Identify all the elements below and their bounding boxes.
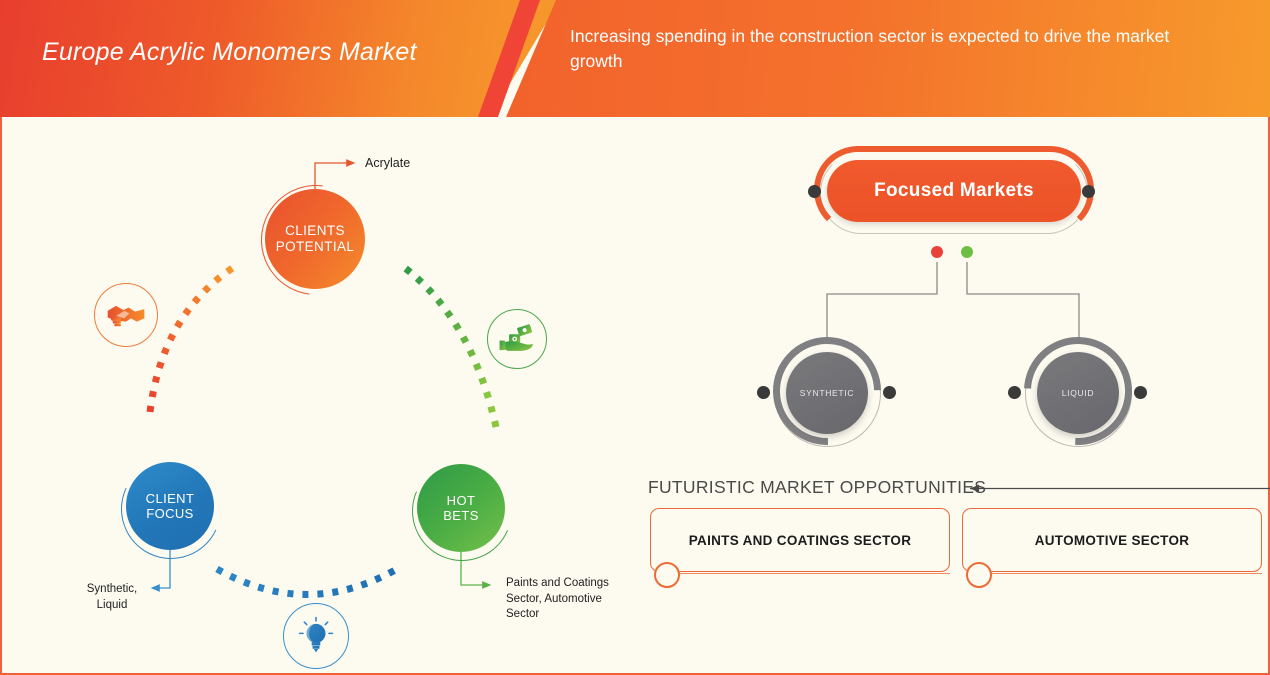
node-client-focus[interactable]: CLIENT FOCUS <box>126 462 214 550</box>
synthetic-connector <box>827 262 937 340</box>
lightbulb-icon-glyph <box>298 617 334 655</box>
hot-bets-label-line1: HOT <box>447 493 476 508</box>
callout-client-focus-line2: Liquid <box>80 598 144 614</box>
callout-hot-bets: Paints and Coatings Sector, Automotive S… <box>506 576 616 623</box>
automotive-box-tail <box>970 573 1262 574</box>
opportunity-box-paints-and-coatings[interactable]: PAINTS AND COATINGS SECTOR <box>650 508 950 572</box>
liquid-right-dot <box>1134 386 1147 399</box>
clients-potential-label-line2: POTENTIAL <box>276 239 355 255</box>
synthetic-label: SYNTHETIC <box>800 388 854 398</box>
infographic-page: Europe Acrylic Monomers Market Increasin… <box>0 0 1270 675</box>
money-hand-icon <box>487 309 547 369</box>
green-dotted-arc <box>405 268 496 427</box>
synthetic-left-dot <box>757 386 770 399</box>
header-banner: Europe Acrylic Monomers Market Increasin… <box>0 0 1270 117</box>
focused-markets-button[interactable]: Focused Markets <box>827 160 1081 222</box>
opportunity-box-automotive[interactable]: AUTOMOTIVE SECTOR <box>962 508 1262 572</box>
focused-markets-right-dot <box>1082 185 1095 198</box>
liquid-label: LIQUID <box>1062 388 1095 398</box>
node-synthetic[interactable]: SYNTHETIC <box>786 352 868 434</box>
callout-acrylate: Acrylate <box>365 156 410 170</box>
blue-dotted-arc <box>217 569 397 595</box>
hot-bets-label: HOT BETS <box>417 464 505 552</box>
paints-and-coatings-label: PAINTS AND COATINGS SECTOR <box>689 533 912 548</box>
client-focus-label-line1: CLIENT <box>146 491 195 506</box>
client-focus-label: CLIENT FOCUS <box>126 462 214 550</box>
futuristic-opportunities-title: FUTURISTIC MARKET OPPORTUNITIES <box>648 477 986 498</box>
orange-dotted-arc <box>150 267 234 412</box>
hot-bets-label-line2: BETS <box>443 508 479 523</box>
callout-hot-bets-line2: Sector, Automotive <box>506 592 616 608</box>
handshake-icon-glyph <box>106 300 146 330</box>
liquid-connector <box>967 262 1079 340</box>
green-dot <box>961 246 973 258</box>
client-focus-label-line2: FOCUS <box>146 506 194 521</box>
automotive-label: AUTOMOTIVE SECTOR <box>1035 533 1190 548</box>
node-hot-bets[interactable]: HOT BETS <box>417 464 505 552</box>
callout-hot-bets-line3: Sector <box>506 607 616 623</box>
node-liquid[interactable]: LIQUID <box>1037 352 1119 434</box>
callout-client-focus: Synthetic, Liquid <box>80 582 144 613</box>
lightbulb-icon <box>283 603 349 669</box>
automotive-box-knob <box>966 562 992 588</box>
clients-potential-label-line1: CLIENTS <box>285 223 345 239</box>
paints-box-tail <box>658 573 950 574</box>
money-hand-icon-glyph <box>498 324 536 354</box>
red-dot <box>931 246 943 258</box>
paints-box-knob <box>654 562 680 588</box>
liquid-left-dot <box>1008 386 1021 399</box>
focused-markets-left-dot <box>808 185 821 198</box>
node-clients-potential[interactable]: CLIENTS POTENTIAL <box>265 189 365 289</box>
handshake-icon <box>94 283 158 347</box>
focused-markets-label: Focused Markets <box>874 180 1034 202</box>
callout-hot-bets-line1: Paints and Coatings <box>506 576 616 592</box>
header-subtitle: Increasing spending in the construction … <box>570 24 1210 74</box>
callout-client-focus-line1: Synthetic, <box>80 582 144 598</box>
clients-potential-label: CLIENTS POTENTIAL <box>265 189 365 289</box>
page-title: Europe Acrylic Monomers Market <box>42 38 417 67</box>
opportunities-arrow-svg <box>962 480 1270 500</box>
synthetic-right-dot <box>883 386 896 399</box>
